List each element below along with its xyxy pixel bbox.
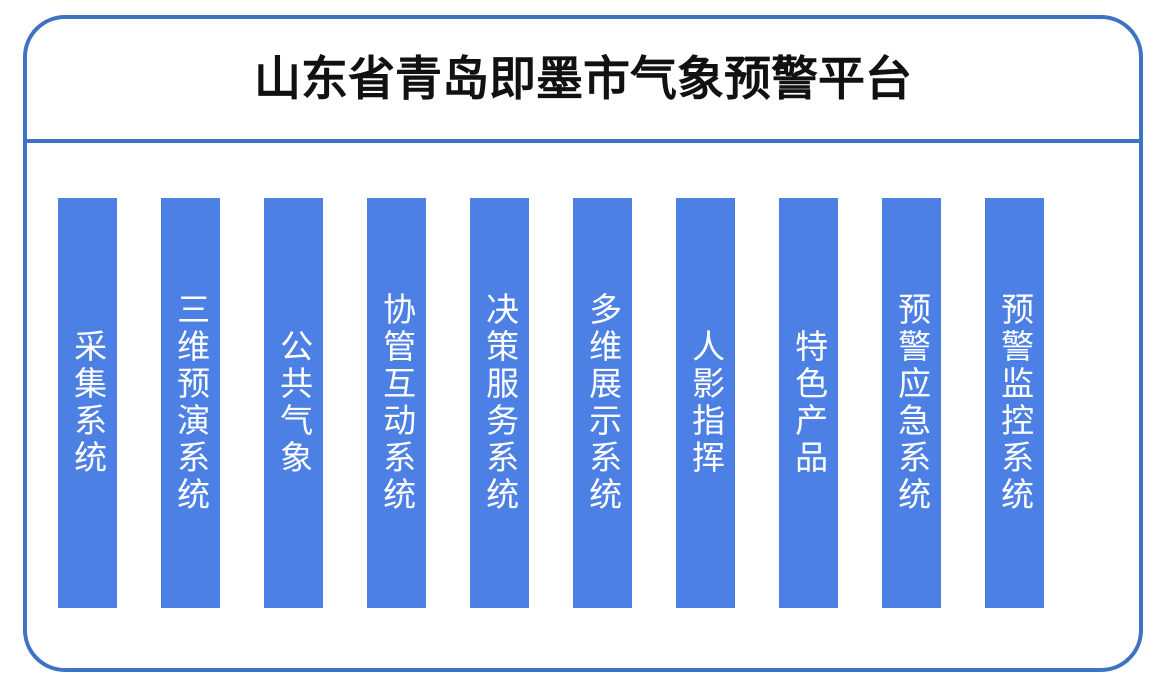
module-bar[interactable]: 预警监控系统 (985, 198, 1044, 608)
module-bar[interactable]: 预警应急系统 (882, 198, 941, 608)
module-bar-label: 人影指挥 (686, 329, 724, 477)
platform-frame: 山东省青岛即墨市气象预警平台 采集系统三维预演系统公共气象协管互动系统决策服务系… (23, 15, 1143, 672)
module-bar[interactable]: 三维预演系统 (161, 198, 220, 608)
module-bar-label: 公共气象 (274, 329, 312, 477)
module-bar-label: 采集系统 (68, 329, 106, 477)
platform-title: 山东省青岛即墨市气象预警平台 (254, 56, 912, 103)
module-bar[interactable]: 采集系统 (58, 198, 117, 608)
module-bar-label: 预警应急系统 (892, 292, 930, 514)
module-bar-strip: 采集系统三维预演系统公共气象协管互动系统决策服务系统多维展示系统人影指挥特色产品… (27, 147, 1139, 668)
module-bar[interactable]: 协管互动系统 (367, 198, 426, 608)
module-bar[interactable]: 特色产品 (779, 198, 838, 608)
module-bar-label: 决策服务系统 (480, 292, 518, 514)
module-bar[interactable]: 决策服务系统 (470, 198, 529, 608)
module-bar-label: 协管互动系统 (377, 292, 415, 514)
diagram-canvas: 山东省青岛即墨市气象预警平台 采集系统三维预演系统公共气象协管互动系统决策服务系… (0, 0, 1165, 693)
module-bar-label: 预警监控系统 (995, 292, 1033, 514)
module-bar[interactable]: 多维展示系统 (573, 198, 632, 608)
module-bar[interactable]: 公共气象 (264, 198, 323, 608)
module-bar-label: 特色产品 (789, 329, 827, 477)
module-bar-label: 三维预演系统 (171, 292, 209, 514)
module-bar-label: 多维展示系统 (583, 292, 621, 514)
title-band: 山东省青岛即墨市气象预警平台 (27, 19, 1139, 143)
module-bar[interactable]: 人影指挥 (676, 198, 735, 608)
